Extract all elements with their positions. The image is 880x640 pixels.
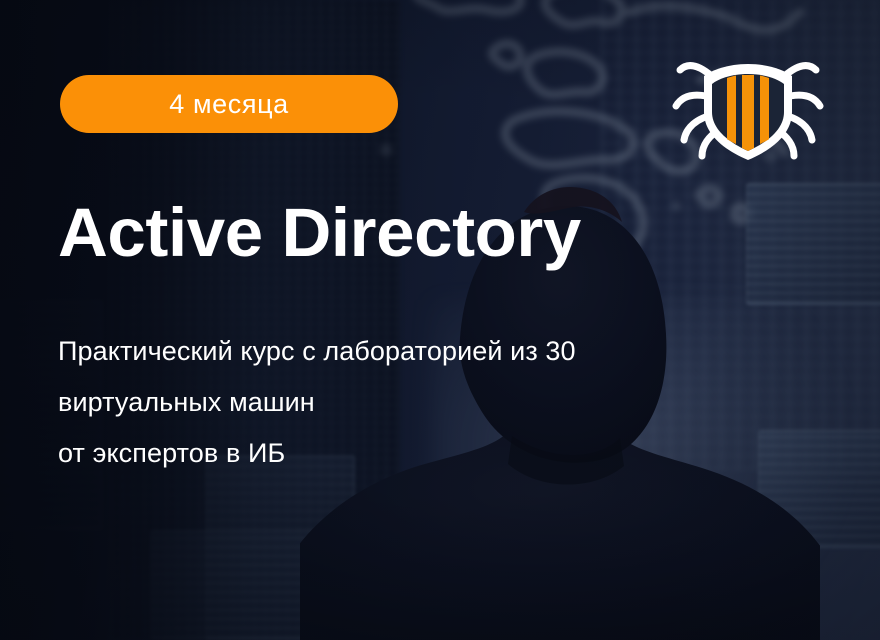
spider-shield-logo (672, 48, 824, 168)
page-title: Active Directory (58, 198, 581, 267)
duration-badge[interactable]: 4 месяца (60, 75, 398, 133)
subtitle-line-2: виртуальных машин (58, 377, 576, 428)
subtitle-line-3: от экспертов в ИБ (58, 428, 576, 479)
subtitle-line-1: Практический курс с лабораторией из 30 (58, 326, 576, 377)
course-promo-banner: 4 месяца (0, 0, 880, 640)
subtitle: Практический курс с лабораторией из 30 в… (58, 326, 576, 479)
duration-badge-label: 4 месяца (169, 91, 289, 118)
banner-content: 4 месяца (0, 0, 880, 640)
